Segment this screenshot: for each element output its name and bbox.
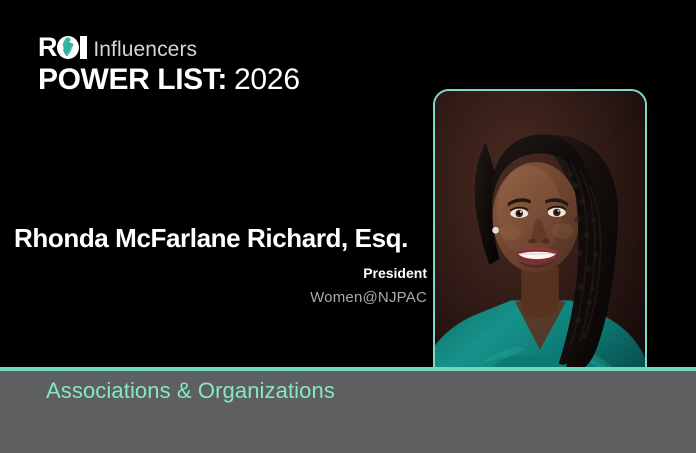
- power-list-year: 2026: [234, 63, 300, 97]
- logo-wordmark: Influencers: [93, 38, 197, 61]
- power-list-honoree-card: R: [0, 0, 696, 453]
- honoree-name: Rhonda McFarlane Richard, Esq.: [14, 222, 430, 254]
- new-jersey-state-icon: [61, 37, 75, 57]
- power-list-label: POWER LIST:: [38, 63, 227, 97]
- roi-letter-o: [57, 36, 79, 59]
- logo-top-row: R: [38, 32, 368, 60]
- category-label: Associations & Organizations: [46, 376, 335, 406]
- logo-bottom-row: POWER LIST: 2026: [38, 63, 368, 97]
- roi-influencers-logo: R: [38, 32, 368, 97]
- honoree-organization: Women@NJPAC: [14, 287, 430, 308]
- honoree-title: President: [14, 263, 430, 283]
- honoree-portrait-frame: [433, 89, 647, 408]
- roi-monogram: R: [38, 34, 87, 60]
- honoree-info-block: Rhonda McFarlane Richard, Esq. President…: [14, 222, 430, 308]
- roi-letter-i: [80, 36, 87, 59]
- earring: [492, 227, 499, 234]
- roi-letter-r: R: [38, 34, 56, 60]
- portrait-photo: [435, 91, 645, 406]
